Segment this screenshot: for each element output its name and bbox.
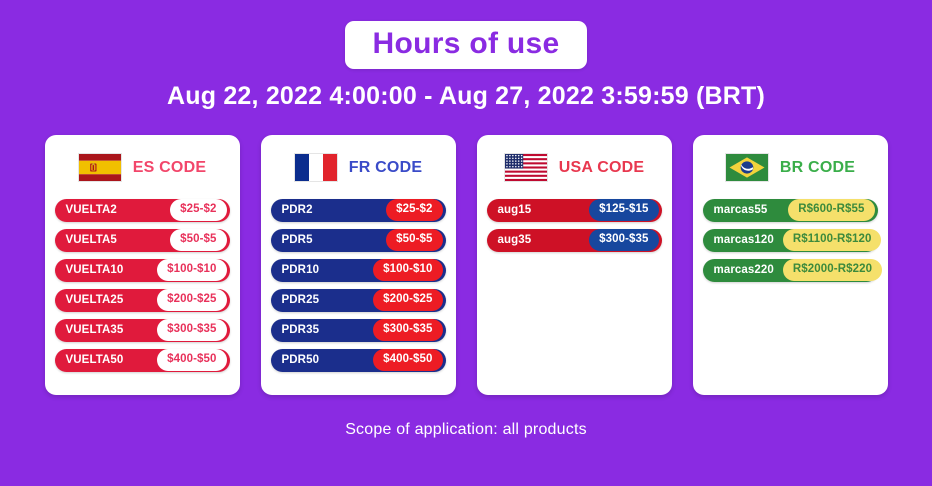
coupon-code: PDR35 <box>271 324 329 336</box>
card-title: FR CODE <box>349 159 422 177</box>
coupon-value: $400-$50 <box>373 349 442 370</box>
coupon-value: $300-$35 <box>157 319 226 340</box>
code-card-fr: FR CODEPDR2$25-$2PDR5$50-$5PDR10$100-$10… <box>261 135 456 395</box>
brazil-flag-icon <box>725 153 769 182</box>
code-card-usa: USA CODEaug15$125-$15aug35$300-$35 <box>477 135 672 395</box>
coupon-code: PDR10 <box>271 264 329 276</box>
coupon-row-list: aug15$125-$15aug35$300-$35 <box>487 199 662 252</box>
coupon-value: $25-$2 <box>386 199 442 220</box>
code-card-br: BR CODEmarcas55R$600-R$55marcas120R$1100… <box>693 135 888 395</box>
coupon-value: $200-$25 <box>157 289 226 310</box>
coupon-row[interactable]: marcas55R$600-R$55 <box>703 199 878 222</box>
coupon-row[interactable]: VUELTA50$400-$50 <box>55 349 230 372</box>
coupon-row[interactable]: VUELTA2$25-$2 <box>55 199 230 222</box>
coupon-code: VUELTA25 <box>55 294 133 306</box>
card-title: BR CODE <box>780 159 855 177</box>
coupon-code: marcas120 <box>703 234 783 246</box>
coupon-value: $50-$5 <box>386 229 442 250</box>
coupon-value: R$2000-R$220 <box>783 259 882 280</box>
code-cards-container: ES CODEVUELTA2$25-$2VUELTA5$50-$5VUELTA1… <box>0 135 932 395</box>
coupon-row[interactable]: marcas220R$2000-R$220 <box>703 259 878 282</box>
coupon-value: $200-$25 <box>373 289 442 310</box>
spain-flag-icon <box>78 153 122 182</box>
coupon-row[interactable]: PDR10$100-$10 <box>271 259 446 282</box>
title-badge: Hours of use <box>345 21 588 69</box>
coupon-value: $100-$10 <box>157 259 226 280</box>
coupon-row-list: marcas55R$600-R$55marcas120R$1100-R$120m… <box>703 199 878 282</box>
coupon-value: $125-$15 <box>589 199 658 220</box>
coupon-value: $100-$10 <box>373 259 442 280</box>
coupon-value: R$600-R$55 <box>788 199 874 220</box>
card-header: USA CODE <box>487 149 662 187</box>
coupon-row[interactable]: VUELTA25$200-$25 <box>55 289 230 312</box>
coupon-row[interactable]: PDR50$400-$50 <box>271 349 446 372</box>
coupon-row[interactable]: VUELTA35$300-$35 <box>55 319 230 342</box>
coupon-code: aug35 <box>487 234 541 246</box>
card-title: USA CODE <box>559 159 644 177</box>
coupon-row[interactable]: PDR25$200-$25 <box>271 289 446 312</box>
coupon-row[interactable]: PDR35$300-$35 <box>271 319 446 342</box>
coupon-value: $25-$2 <box>170 199 226 220</box>
usa-flag-icon <box>504 153 548 182</box>
card-title: ES CODE <box>133 159 206 177</box>
coupon-value: $300-$35 <box>589 229 658 250</box>
card-header: BR CODE <box>703 149 878 187</box>
coupon-value: R$1100-R$120 <box>783 229 882 250</box>
coupon-value: $50-$5 <box>170 229 226 250</box>
card-header: FR CODE <box>271 149 446 187</box>
coupon-row-list: PDR2$25-$2PDR5$50-$5PDR10$100-$10PDR25$2… <box>271 199 446 372</box>
coupon-code: VUELTA35 <box>55 324 133 336</box>
code-card-es: ES CODEVUELTA2$25-$2VUELTA5$50-$5VUELTA1… <box>45 135 240 395</box>
coupon-code: PDR50 <box>271 354 329 366</box>
coupon-row[interactable]: aug15$125-$15 <box>487 199 662 222</box>
scope-note: Scope of application: all products <box>0 421 932 439</box>
coupon-code: VUELTA50 <box>55 354 133 366</box>
coupon-row[interactable]: VUELTA5$50-$5 <box>55 229 230 252</box>
coupon-row-list: VUELTA2$25-$2VUELTA5$50-$5VUELTA10$100-$… <box>55 199 230 372</box>
coupon-code: VUELTA2 <box>55 204 126 216</box>
coupon-code: VUELTA10 <box>55 264 133 276</box>
coupon-code: PDR5 <box>271 234 322 246</box>
coupon-row[interactable]: PDR2$25-$2 <box>271 199 446 222</box>
coupon-code: marcas55 <box>703 204 777 216</box>
coupon-code: marcas220 <box>703 264 783 276</box>
page-title: Hours of use <box>373 28 560 60</box>
coupon-code: PDR2 <box>271 204 322 216</box>
coupon-value: $400-$50 <box>157 349 226 370</box>
coupon-code: PDR25 <box>271 294 329 306</box>
card-header: ES CODE <box>55 149 230 187</box>
coupon-value: $300-$35 <box>373 319 442 340</box>
title-container: Hours of use <box>0 0 932 69</box>
coupon-code: VUELTA5 <box>55 234 126 246</box>
coupon-row[interactable]: aug35$300-$35 <box>487 229 662 252</box>
coupon-row[interactable]: marcas120R$1100-R$120 <box>703 229 878 252</box>
coupon-row[interactable]: PDR5$50-$5 <box>271 229 446 252</box>
coupon-code: aug15 <box>487 204 541 216</box>
france-flag-icon <box>294 153 338 182</box>
date-range: Aug 22, 2022 4:00:00 - Aug 27, 2022 3:59… <box>0 82 932 111</box>
coupon-row[interactable]: VUELTA10$100-$10 <box>55 259 230 282</box>
